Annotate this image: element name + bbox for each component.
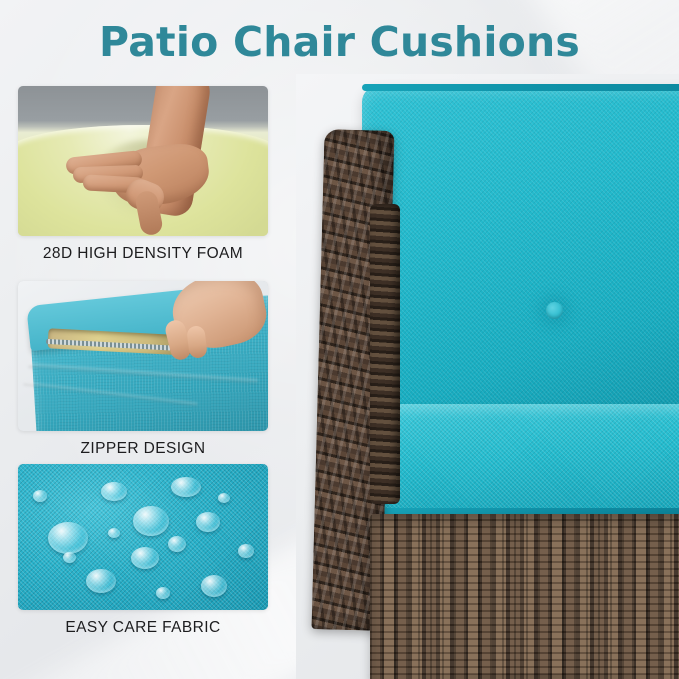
water-droplet — [156, 587, 170, 599]
wicker-arm-inner-panel — [370, 204, 400, 504]
water-droplet — [201, 575, 227, 597]
wicker-chair-base — [370, 514, 679, 679]
feature-image-fabric — [18, 464, 268, 610]
water-droplet — [63, 552, 76, 563]
product-infographic: Patio Chair Cushions 28D HIGH DENSITY FO… — [0, 0, 679, 679]
water-droplet — [171, 477, 201, 497]
water-droplet — [196, 512, 220, 532]
feature-image-zipper — [18, 281, 268, 431]
page-title: Patio Chair Cushions — [0, 18, 679, 66]
feature-card-high-density-foam: 28D HIGH DENSITY FOAM — [18, 86, 268, 263]
water-droplet — [86, 569, 116, 593]
feature-caption: EASY CARE FABRIC — [18, 619, 268, 637]
back-cushion-piping — [362, 84, 679, 91]
feature-card-easy-care-fabric: EASY CARE FABRIC — [18, 464, 268, 637]
cushion-tufted-button — [546, 302, 563, 319]
feature-caption: ZIPPER DESIGN — [18, 440, 268, 458]
back-cushion — [362, 86, 679, 426]
feature-image-foam — [18, 86, 268, 236]
product-photo — [296, 74, 679, 679]
water-droplet — [131, 547, 159, 569]
water-droplet — [168, 536, 186, 552]
chair-drop-shadow — [366, 674, 679, 679]
water-droplet — [101, 482, 127, 501]
feature-caption: 28D HIGH DENSITY FOAM — [18, 245, 268, 263]
feature-card-zipper-design: ZIPPER DESIGN — [18, 281, 268, 458]
